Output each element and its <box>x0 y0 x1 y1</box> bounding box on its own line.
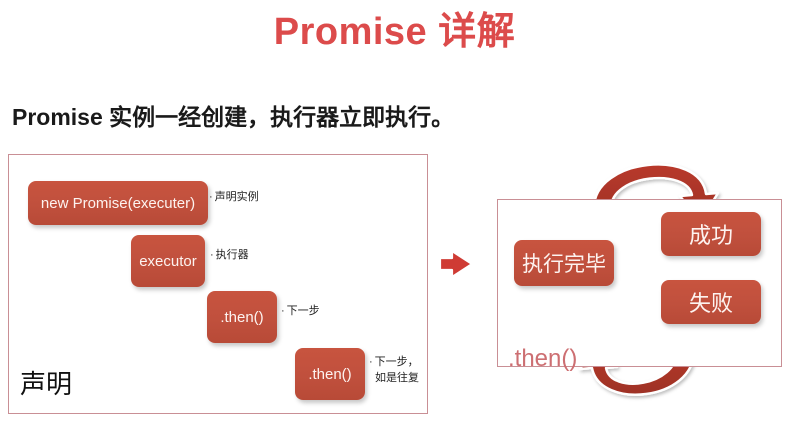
annotation-text: 下一步， <box>375 356 419 368</box>
node-failure[interactable]: 失败 <box>661 280 761 324</box>
bullet-icon: · <box>210 249 214 261</box>
annotation-new-promise: ·声明实例 <box>209 190 259 206</box>
declaration-panel-label: 声明 <box>20 364 72 401</box>
node-executor[interactable]: executor <box>131 235 205 287</box>
node-success[interactable]: 成功 <box>661 212 761 256</box>
bullet-icon: · <box>209 191 213 203</box>
node-new-promise[interactable]: new Promise(executer) <box>28 181 208 225</box>
annotation-then-second: ·下一步， 如是往复 <box>369 355 419 387</box>
annotation-executor: ·执行器 <box>210 248 249 264</box>
bullet-icon: · <box>369 356 373 368</box>
then-panel-label: .then() <box>508 345 577 373</box>
annotation-text-line2: 如是往复 <box>375 371 419 387</box>
page-title: Promise 详解 <box>0 12 789 54</box>
annotation-text: 执行器 <box>216 249 249 261</box>
bullet-icon: · <box>281 305 285 317</box>
node-execution-complete[interactable]: 执行完毕 <box>514 240 614 286</box>
node-then-first[interactable]: .then() <box>207 291 277 343</box>
connector-arrow-icon <box>440 251 472 277</box>
page-subtitle: Promise 实例一经创建，执行器立即执行。 <box>12 98 454 132</box>
node-then-second[interactable]: .then() <box>295 348 365 400</box>
annotation-text: 声明实例 <box>215 191 259 203</box>
annotation-text: 下一步 <box>287 305 320 317</box>
annotation-then-first: ·下一步 <box>281 304 320 320</box>
